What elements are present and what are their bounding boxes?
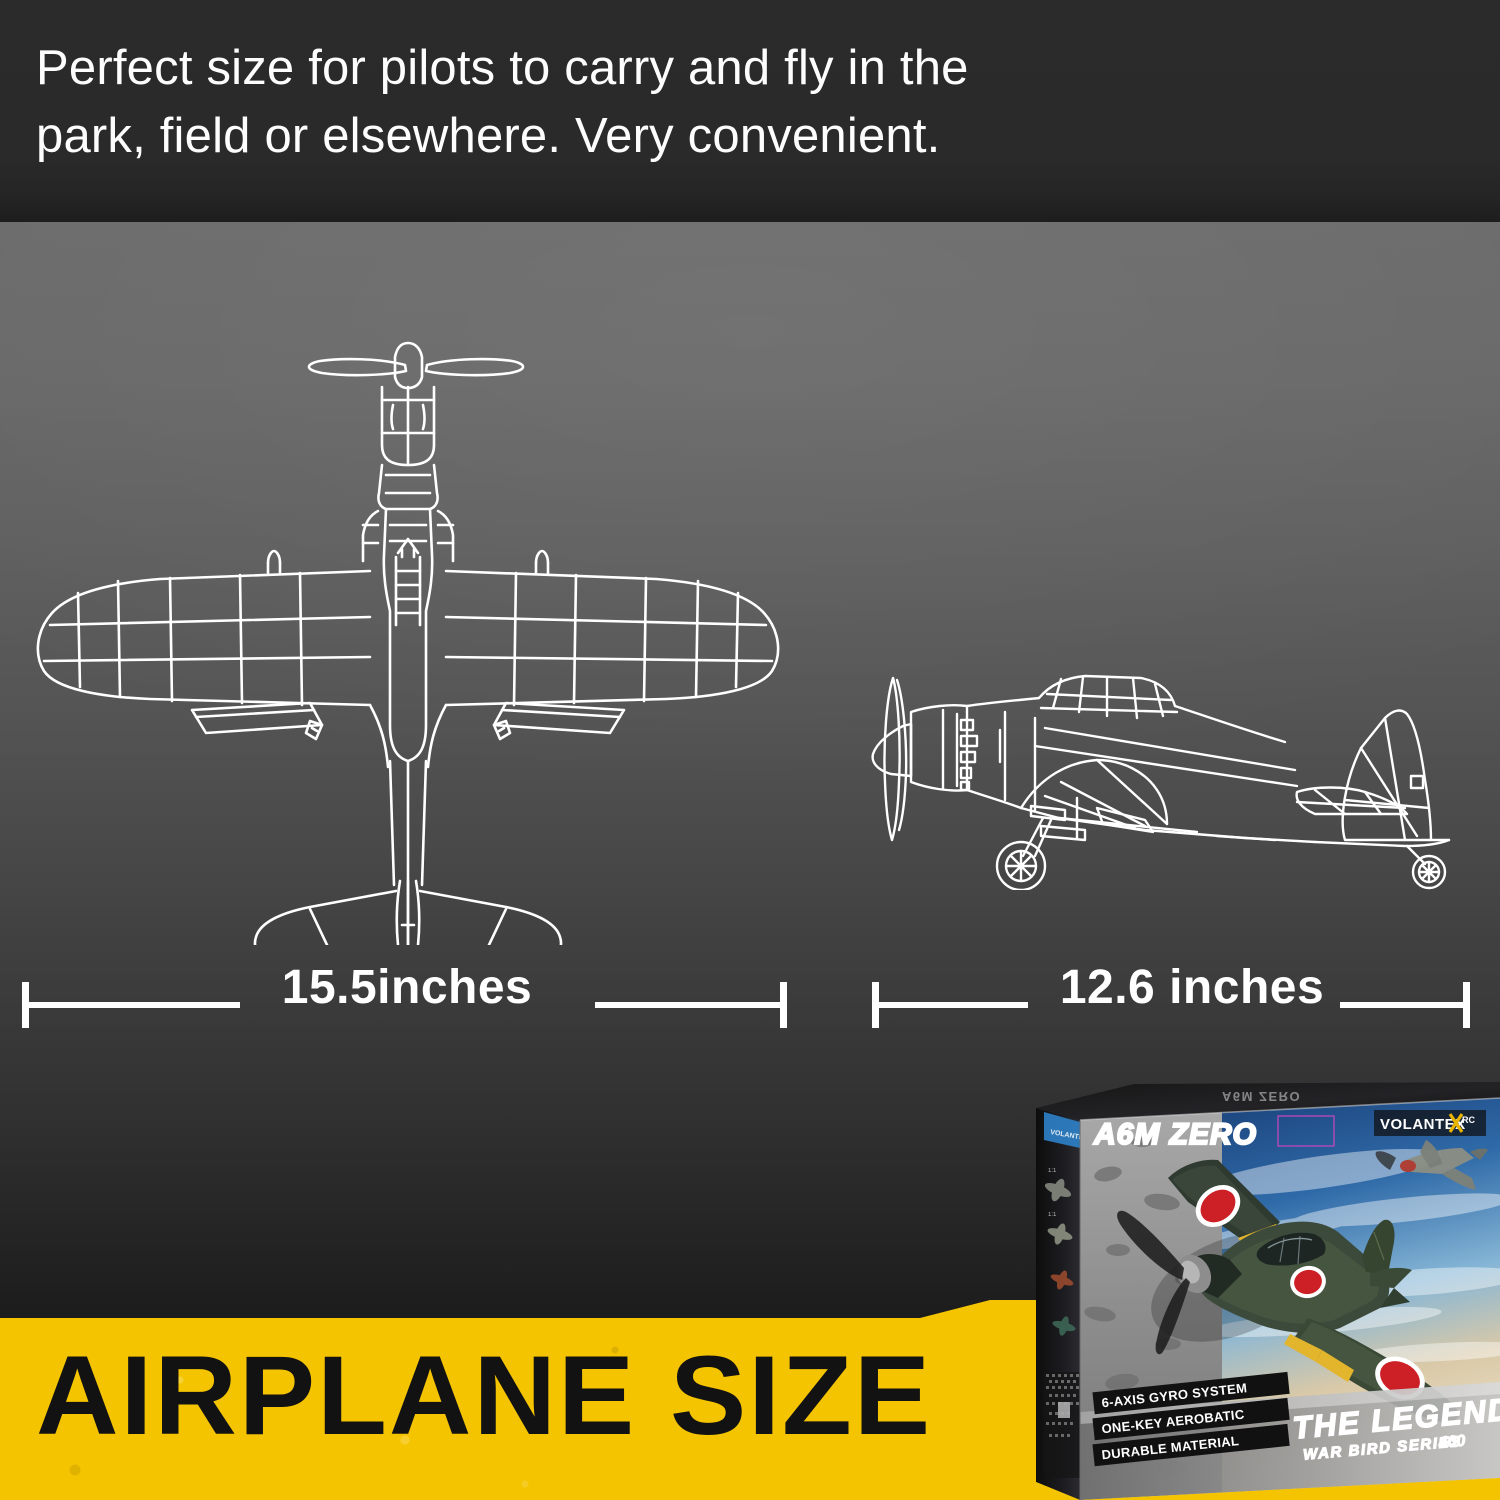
dimension-bar-right	[1340, 1002, 1464, 1008]
dimension-label-length: 12.6 inches	[1032, 960, 1352, 1015]
svg-text:1:1: 1:1	[1048, 1212, 1057, 1218]
svg-text:RC: RC	[1462, 1115, 1475, 1125]
airplane-side-view	[845, 650, 1485, 890]
header-band: Perfect size for pilots to carry and fly…	[0, 0, 1500, 222]
dimension-tick-right	[780, 982, 787, 1028]
box-model-title: A6M ZERO	[1093, 1118, 1257, 1151]
series-number: 400	[1437, 1433, 1466, 1452]
dimension-tick-right	[1463, 982, 1470, 1028]
infographic-canvas: Perfect size for pilots to carry and fly…	[0, 0, 1500, 1500]
box-top-wordmark: A6M ZERO	[1222, 1089, 1301, 1104]
svg-text:A6M ZERO: A6M ZERO	[1093, 1118, 1257, 1151]
svg-text:A6M ZERO: A6M ZERO	[1222, 1089, 1301, 1104]
box-front-face: A6M ZERO VOLANTEX RC	[1080, 1098, 1500, 1500]
header-description: Perfect size for pilots to carry and fly…	[36, 34, 1066, 170]
dimension-label-wingspan: 15.5inches	[247, 960, 567, 1015]
banner-title: AIRPLANE SIZE	[36, 1340, 932, 1452]
svg-text:1:1: 1:1	[1048, 1168, 1057, 1174]
airplane-top-view	[10, 325, 820, 945]
product-box-image: A6M ZERO VOLANTEX	[1022, 1082, 1500, 1500]
dimension-wingspan: 15.5inches	[22, 982, 787, 1028]
dimension-bar-left	[878, 1002, 1028, 1008]
brand-logo: VOLANTEX RC	[1374, 1110, 1486, 1136]
dimension-bar-left	[28, 1002, 240, 1008]
dimension-bar-right	[595, 1002, 781, 1008]
dimension-length: 12.6 inches	[872, 982, 1470, 1028]
